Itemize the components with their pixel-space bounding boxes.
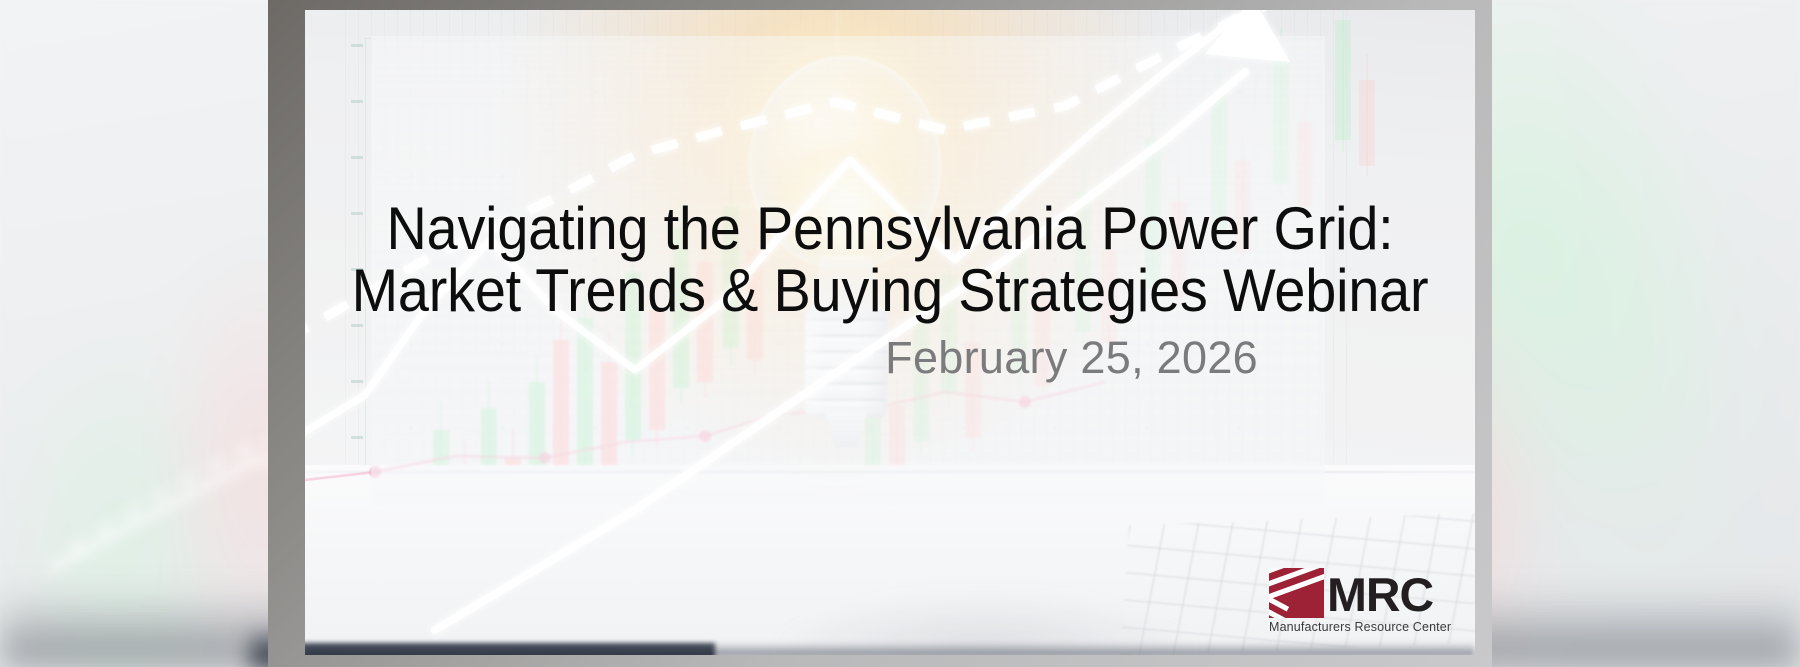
mrc-logo[interactable]: MRC Manufacturers Resource Center (1269, 568, 1451, 640)
hero-scene: Navigating the Pennsylvania Power Grid: … (305, 10, 1475, 655)
event-date: February 25, 2026 (885, 332, 1258, 384)
candlestick-body (1335, 20, 1351, 140)
mrc-logo-row: MRC (1269, 568, 1451, 618)
mrc-tagline: Manufacturers Resource Center (1269, 620, 1451, 634)
webinar-banner: Navigating the Pennsylvania Power Grid: … (0, 0, 1800, 667)
page-title-line-1: Navigating the Pennsylvania Power Grid: (346, 198, 1434, 260)
page-title-line-2: Market Trends & Buying Strategies Webina… (346, 260, 1434, 322)
mrc-chevron-mark-icon (1269, 568, 1324, 618)
photo-frame-inner: Navigating the Pennsylvania Power Grid: … (305, 10, 1475, 655)
photo-frame: Navigating the Pennsylvania Power Grid: … (268, 0, 1492, 667)
mrc-acronym: MRC (1327, 572, 1433, 618)
title-block: Navigating the Pennsylvania Power Grid: … (305, 198, 1475, 322)
laptop-base-bar (305, 643, 715, 655)
candlestick-body (1359, 80, 1375, 166)
